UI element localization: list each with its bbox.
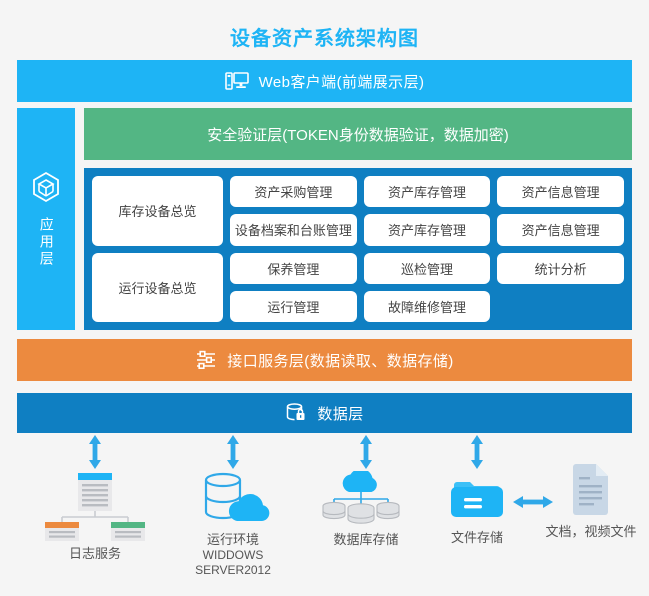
data-layer-label: 数据层: [317, 403, 363, 424]
module-label: 资产库存管理: [388, 220, 466, 239]
module-box[interactable]: 设备档案和台账管理: [230, 214, 357, 245]
module-label: 资产信息管理: [522, 182, 600, 201]
module-box[interactable]: 资产信息管理: [497, 214, 624, 245]
security-layer-label: 安全验证层(TOKEN身份数据验证，数据加密): [207, 124, 508, 145]
application-layer-body: 安全验证层(TOKEN身份数据验证，数据加密) 库存设备总览 资产采购管理 资产…: [84, 108, 632, 330]
module-label: 资产信息管理: [522, 220, 600, 239]
module-line: 设备档案和台账管理 资产库存管理 资产信息管理: [230, 214, 624, 245]
desktop-computer-icon: [225, 70, 249, 92]
web-client-layer-bar: Web客户端(前端展示层): [17, 60, 632, 102]
infra-node-label: 文档，视频文件: [533, 524, 649, 540]
module-box[interactable]: 资产采购管理: [230, 176, 357, 207]
log-tree-documents-icon: [40, 471, 150, 541]
infra-node-file-storage[interactable]: 文件存储: [417, 475, 537, 546]
application-layer: 应用层 安全验证层(TOKEN身份数据验证，数据加密) 库存设备总览 资产采购管…: [17, 108, 632, 330]
infra-node-database-storage[interactable]: 数据库存储: [306, 471, 426, 548]
module-box[interactable]: 运行管理: [230, 291, 357, 322]
module-row: 运行设备总览 保养管理 巡检管理 统计分析 运行管理 故障维修管理: [92, 253, 624, 323]
module-box[interactable]: 故障维修管理: [364, 291, 491, 322]
module-label: 资产采购管理: [254, 182, 332, 201]
module-box[interactable]: 巡检管理: [364, 253, 491, 284]
overview-label: 库存设备总览: [118, 201, 196, 220]
web-client-layer-label: Web客户端(前端展示层): [259, 71, 425, 92]
architecture-diagram: 设备资产系统架构图 Web客户端(前端展示层): [0, 0, 649, 596]
folder-icon: [447, 475, 507, 525]
infra-node-sublabel-line2: SERVER2012: [173, 563, 293, 578]
vertical-double-arrow: [84, 435, 106, 469]
database-cloud-icon: [190, 471, 276, 527]
module-row: 库存设备总览 资产采购管理 资产库存管理 资产信息管理 设备档案和台账管理 资产…: [92, 176, 624, 246]
module-grid: 资产采购管理 资产库存管理 资产信息管理 设备档案和台账管理 资产库存管理 资产…: [230, 176, 624, 246]
module-box[interactable]: 资产库存管理: [364, 176, 491, 207]
infrastructure-row: 日志服务 运行环境 WIDDOWS SERVER2012: [0, 433, 649, 596]
module-box[interactable]: 保养管理: [230, 253, 357, 284]
cube-icon: [31, 171, 61, 208]
api-service-layer-bar: 接口服务层(数据读取、数据存储): [17, 339, 632, 381]
module-line: 保养管理 巡检管理 统计分析: [230, 253, 624, 284]
infra-node-label: 日志服务: [35, 546, 155, 562]
module-label: 设备档案和台账管理: [235, 220, 352, 239]
application-layer-label: 应用层: [38, 217, 53, 268]
application-layer-side: 应用层: [17, 108, 75, 330]
document-file-icon: [567, 461, 615, 519]
module-panel: 库存设备总览 资产采购管理 资产库存管理 资产信息管理 设备档案和台账管理 资产…: [84, 168, 632, 330]
database-lock-icon: [285, 402, 307, 424]
module-line: 资产采购管理 资产库存管理 资产信息管理: [230, 176, 624, 207]
module-label: 故障维修管理: [388, 297, 466, 316]
sliders-settings-icon: [195, 349, 217, 371]
infra-node-label: 数据库存储: [306, 532, 426, 548]
module-line: 运行管理 故障维修管理: [230, 291, 624, 322]
overview-box-inventory[interactable]: 库存设备总览: [92, 176, 223, 246]
module-box[interactable]: 资产信息管理: [497, 176, 624, 207]
vertical-double-arrow: [355, 435, 377, 469]
module-grid: 保养管理 巡检管理 统计分析 运行管理 故障维修管理: [230, 253, 624, 323]
overview-label: 运行设备总览: [118, 278, 196, 297]
overview-box-running[interactable]: 运行设备总览: [92, 253, 223, 323]
module-label: 运行管理: [267, 297, 319, 316]
security-layer-bar: 安全验证层(TOKEN身份数据验证，数据加密): [84, 108, 632, 160]
infra-node-documents[interactable]: 文档，视频文件: [533, 461, 649, 540]
module-box-placeholder: [497, 291, 624, 322]
module-box[interactable]: 资产库存管理: [364, 214, 491, 245]
module-label: 资产库存管理: [388, 182, 466, 201]
module-label: 巡检管理: [401, 259, 453, 278]
infra-node-log-service[interactable]: 日志服务: [35, 471, 155, 562]
infra-node-label: 运行环境: [173, 532, 293, 548]
infra-node-sublabel-line1: WIDDOWS: [173, 548, 293, 563]
page-title: 设备资产系统架构图: [0, 22, 649, 51]
infra-node-runtime-environment[interactable]: 运行环境 WIDDOWS SERVER2012: [173, 471, 293, 578]
api-service-layer-label: 接口服务层(数据读取、数据存储): [227, 350, 453, 371]
infra-node-label: 文件存储: [417, 530, 537, 546]
module-box[interactable]: 统计分析: [497, 253, 624, 284]
vertical-double-arrow: [222, 435, 244, 469]
cloud-databases-icon: [316, 471, 416, 527]
vertical-double-arrow: [466, 435, 488, 469]
data-layer-bar: 数据层: [17, 393, 632, 433]
module-label: 保养管理: [267, 259, 319, 278]
module-label: 统计分析: [535, 259, 587, 278]
